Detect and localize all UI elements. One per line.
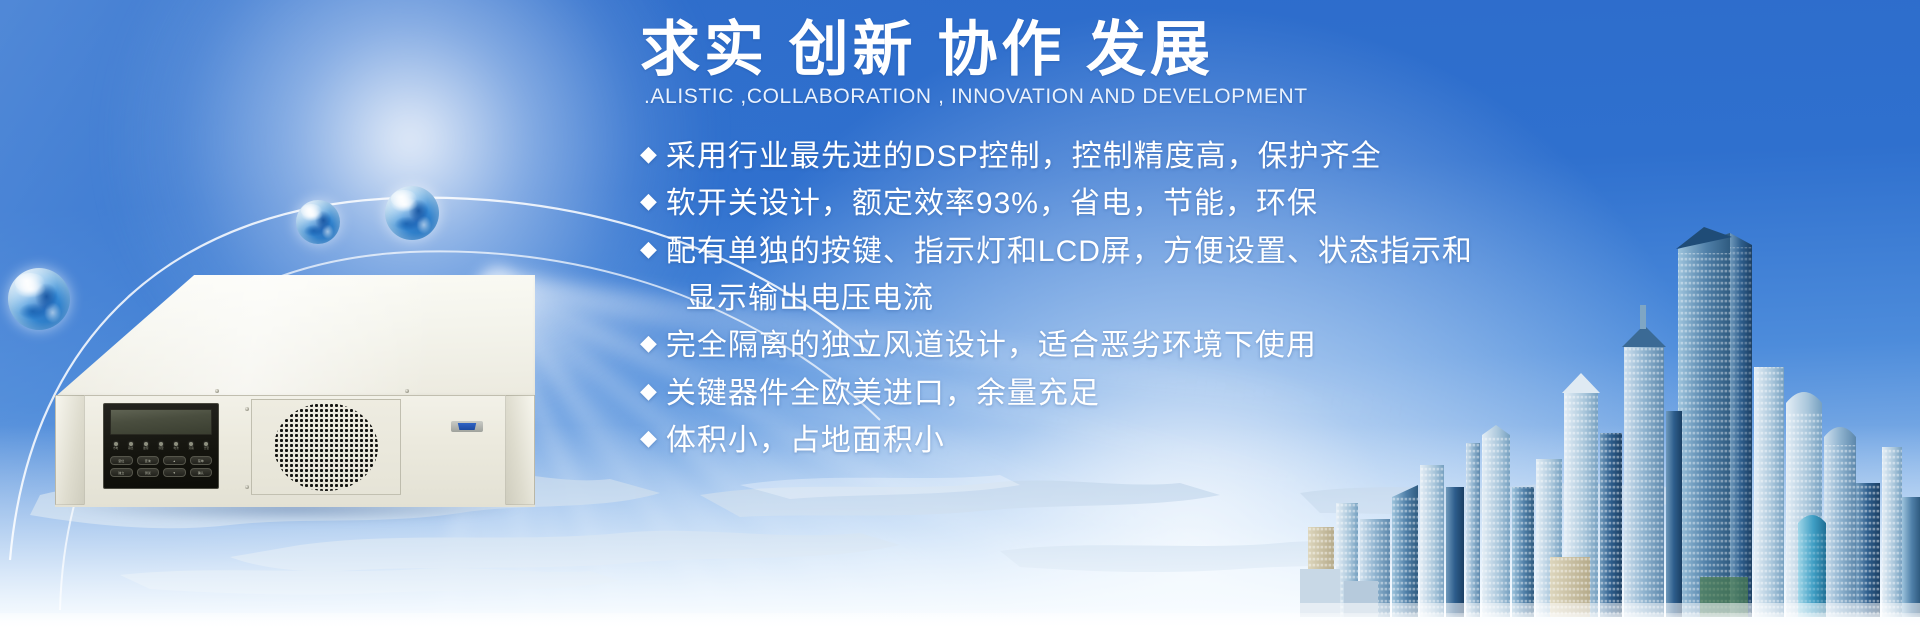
led-indicator: 电池 — [174, 442, 179, 450]
led-indicator: 告警 — [204, 442, 209, 450]
diamond-bullet-icon: ◆ — [640, 133, 658, 176]
control-panel[interactable]: 市电 输出 故障 预警 电池 — [103, 403, 219, 489]
led-label: 故障 — [143, 448, 148, 451]
keypad[interactable]: 复位 查询 ▲ 菜单 独立 测试 ▼ 确认 — [110, 456, 212, 477]
list-item: ◆ 软开关设计，额定效率93%，省电，节能，环保 — [640, 180, 1890, 227]
led-icon — [204, 442, 208, 446]
lcd-screen — [110, 409, 212, 435]
led-label: 预警 — [158, 448, 163, 451]
db9-connector-core — [457, 423, 477, 430]
list-item: ◆ 完全隔离的独立风道设计，适合恶劣环境下使用 — [640, 322, 1890, 369]
list-item: ◆ 采用行业最先进的DSP控制，控制精度高，保护齐全 — [640, 133, 1890, 180]
vent-grill-icon — [274, 403, 378, 491]
led-icon — [189, 442, 193, 446]
diamond-bullet-icon: ◆ — [640, 228, 658, 271]
led-icon — [114, 442, 118, 446]
led-indicator: 预警 — [158, 442, 163, 450]
led-indicator: 故障 — [143, 442, 148, 450]
list-item-text: 关键器件全欧美进口，余量充足 — [666, 370, 1890, 417]
globe-icon — [296, 200, 340, 244]
feature-list: ◆ 采用行业最先进的DSP控制，控制精度高，保护齐全 ◆ 软开关设计，额定效率9… — [640, 133, 1890, 465]
screw — [245, 485, 249, 489]
rack-ear-left — [55, 395, 85, 505]
fan-vent — [251, 399, 401, 495]
led-indicator-row: 市电 输出 故障 预警 电池 — [110, 442, 212, 450]
screw — [405, 389, 409, 393]
diamond-bullet-icon: ◆ — [640, 417, 658, 460]
led-label: 电池 — [174, 448, 179, 451]
led-indicator: 输出 — [128, 442, 133, 450]
rack-mount-power-supply: 市电 输出 故障 预警 电池 — [55, 275, 535, 520]
list-item: ◆ 体积小，占地面积小 — [640, 417, 1890, 464]
bottom-edge — [0, 613, 1920, 635]
page-subtitle: .ALISTIC ,COLLABORATION , INNOVATION AND… — [644, 85, 1890, 109]
device-top-sheen — [55, 275, 535, 397]
diamond-bullet-icon: ◆ — [640, 370, 658, 413]
banner-content: 求实 创新 协作 发展 .ALISTIC ,COLLABORATION , IN… — [640, 18, 1890, 465]
led-label: 旁路 — [189, 448, 194, 451]
list-item-text: 软开关设计，额定效率93%，省电，节能，环保 — [666, 180, 1890, 227]
panel-key-down[interactable]: ▼ — [163, 468, 186, 477]
promo-banner: 市电 输出 故障 预警 电池 — [0, 0, 1920, 635]
panel-key[interactable]: 确认 — [190, 468, 213, 477]
list-item-text: 完全隔离的独立风道设计，适合恶劣环境下使用 — [666, 322, 1890, 369]
diamond-bullet-icon: ◆ — [640, 322, 658, 365]
list-item-text: 配有单独的按键、指示灯和LCD屏，方便设置、状态指示和 — [666, 228, 1890, 275]
led-indicator: 旁路 — [189, 442, 194, 450]
globe-icon — [385, 186, 439, 240]
led-label: 输出 — [128, 448, 133, 451]
led-label: 市电 — [113, 448, 118, 451]
panel-key[interactable]: 菜单 — [190, 456, 213, 465]
panel-key[interactable]: 独立 — [110, 468, 133, 477]
rack-ear-right — [505, 395, 535, 505]
led-label: 告警 — [204, 448, 209, 451]
screw — [215, 389, 219, 393]
page-title: 求实 创新 协作 发展 — [640, 18, 1890, 83]
screw — [245, 407, 249, 411]
led-icon — [129, 442, 133, 446]
list-item-continuation: 显示输出电压电流 — [686, 275, 1890, 322]
list-item: ◆ 关键器件全欧美进口，余量充足 — [640, 370, 1890, 417]
led-icon — [144, 442, 148, 446]
list-item: ◆ 配有单独的按键、指示灯和LCD屏，方便设置、状态指示和 — [640, 228, 1890, 275]
led-indicator: 市电 — [113, 442, 118, 450]
led-icon — [159, 442, 163, 446]
db9-connector — [451, 421, 483, 432]
panel-key-up[interactable]: ▲ — [163, 456, 186, 465]
diamond-bullet-icon: ◆ — [640, 180, 658, 223]
led-icon — [174, 442, 178, 446]
panel-key[interactable]: 测试 — [137, 468, 160, 477]
list-item-text: 体积小，占地面积小 — [666, 417, 1890, 464]
panel-key[interactable]: 复位 — [110, 456, 133, 465]
list-item-text: 采用行业最先进的DSP控制，控制精度高，保护齐全 — [666, 133, 1890, 180]
panel-key[interactable]: 查询 — [137, 456, 160, 465]
